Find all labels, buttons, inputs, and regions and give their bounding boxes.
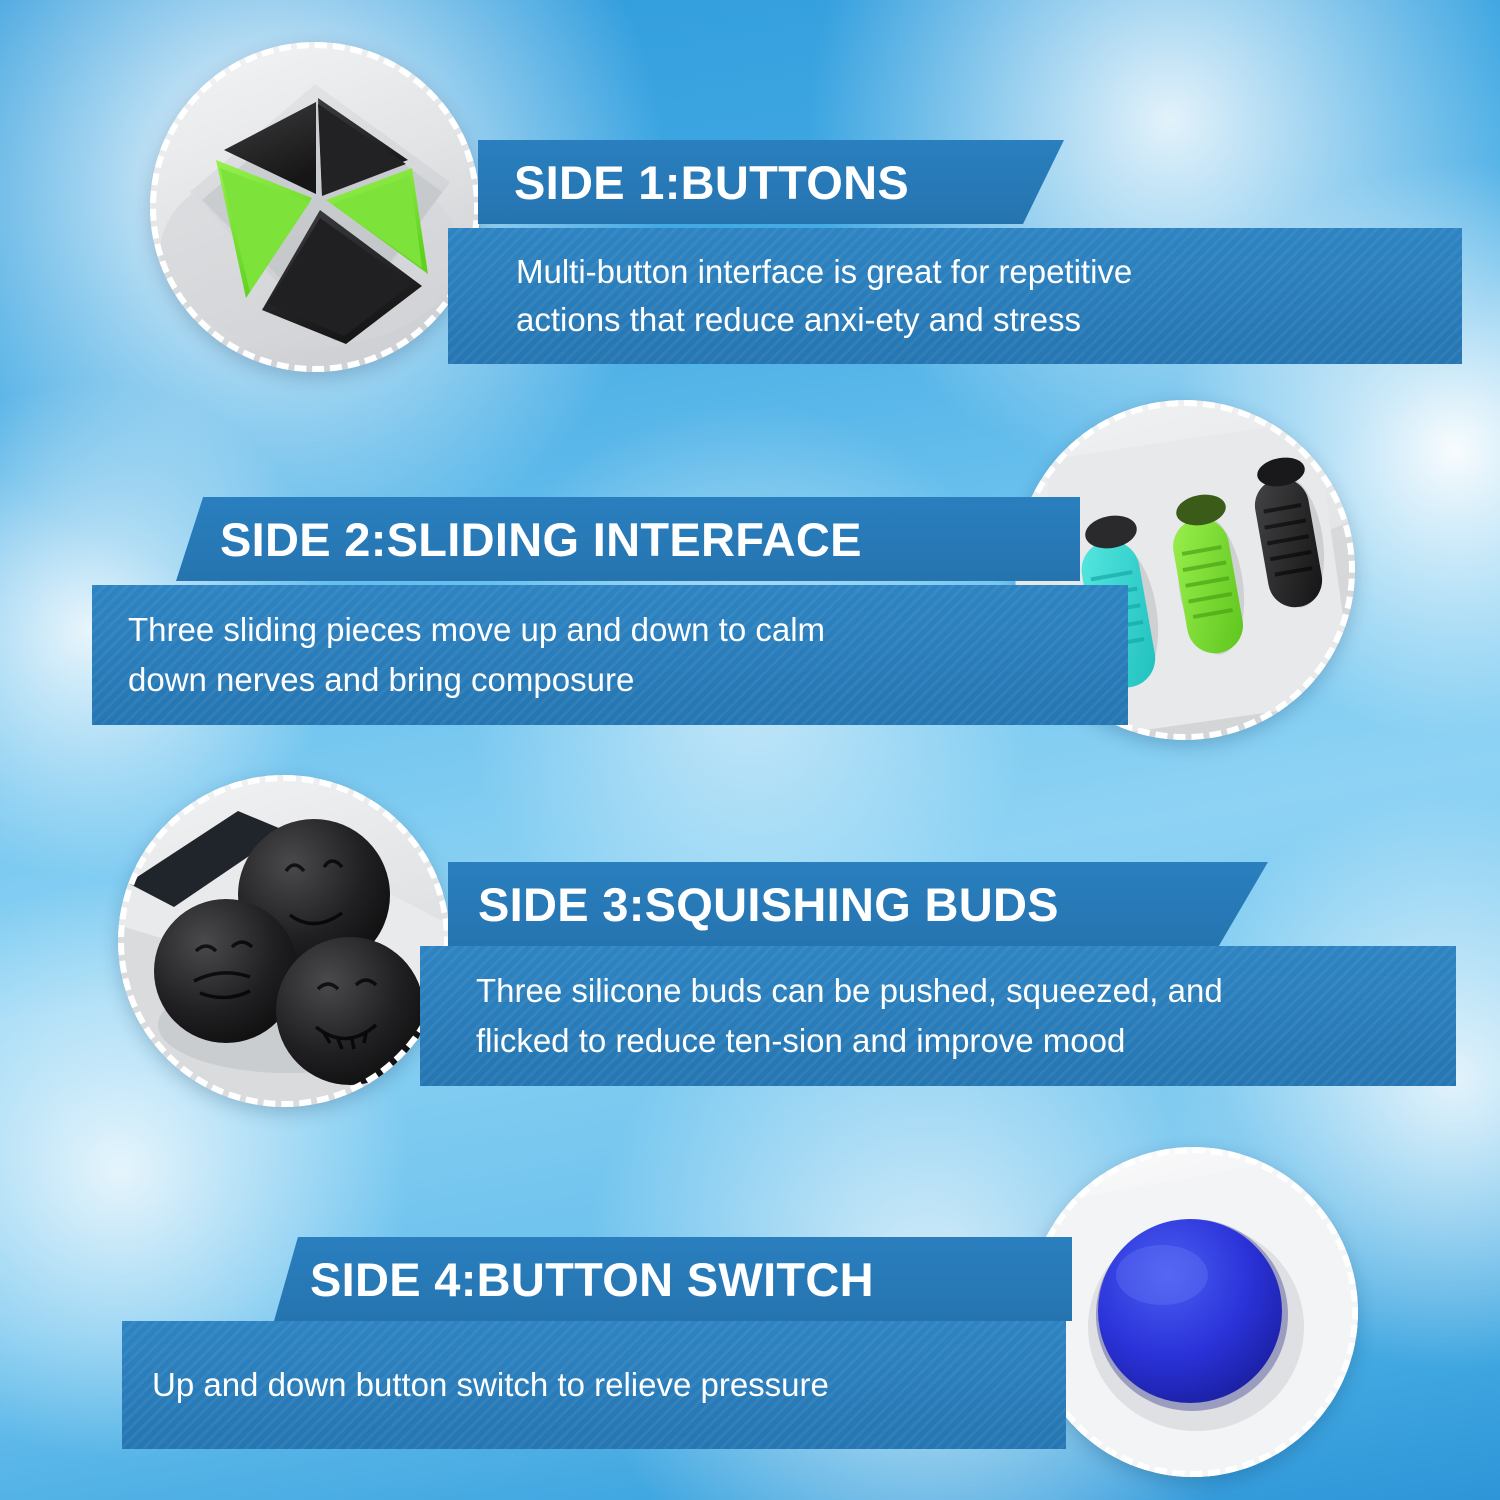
section-description-side-2: Three sliding pieces move up and down to… [92,585,1128,725]
desc-line: Up and down button switch to relieve pre… [152,1360,1066,1410]
section-title-side-3: SIDE 3:SQUISHING BUDS [448,862,1268,946]
section-title-side-2: SIDE 2:SLIDING INTERFACE [176,497,1080,581]
section-title-text-4: SIDE 4:BUTTON SWITCH [310,1252,874,1307]
section-title-text-2: SIDE 2:SLIDING INTERFACE [220,512,862,567]
product-photo-side-3 [118,775,450,1107]
section-title-text-1: SIDE 1:BUTTONS [514,155,909,210]
infographic-stage: SIDE 1:BUTTONS Multi-button interface is… [0,0,1500,1500]
button-switch-illustration [1028,1147,1358,1477]
buttons-illustration [150,42,480,372]
desc-line: Multi-button interface is great for repe… [516,248,1462,296]
desc-line: flicked to reduce ten-sion and improve m… [476,1016,1456,1066]
product-photo-side-4 [1028,1147,1358,1477]
buds-illustration [118,775,450,1107]
section-title-side-4: SIDE 4:BUTTON SWITCH [274,1237,1072,1321]
section-title-side-1: SIDE 1:BUTTONS [478,140,1064,224]
section-title-text-3: SIDE 3:SQUISHING BUDS [478,877,1059,932]
desc-line: Three silicone buds can be pushed, squee… [476,966,1456,1016]
section-description-side-4: Up and down button switch to relieve pre… [122,1321,1066,1449]
product-photo-side-1 [150,42,480,372]
photo-inner-3 [118,775,450,1107]
desc-line: actions that reduce anxi-ety and stress [516,296,1462,344]
photo-inner-1 [150,42,480,372]
section-description-side-1: Multi-button interface is great for repe… [448,228,1462,364]
desc-line: Three sliding pieces move up and down to… [128,605,1128,655]
desc-line: down nerves and bring composure [128,655,1128,705]
photo-inner-4 [1028,1147,1358,1477]
section-description-side-3: Three silicone buds can be pushed, squee… [420,946,1456,1086]
